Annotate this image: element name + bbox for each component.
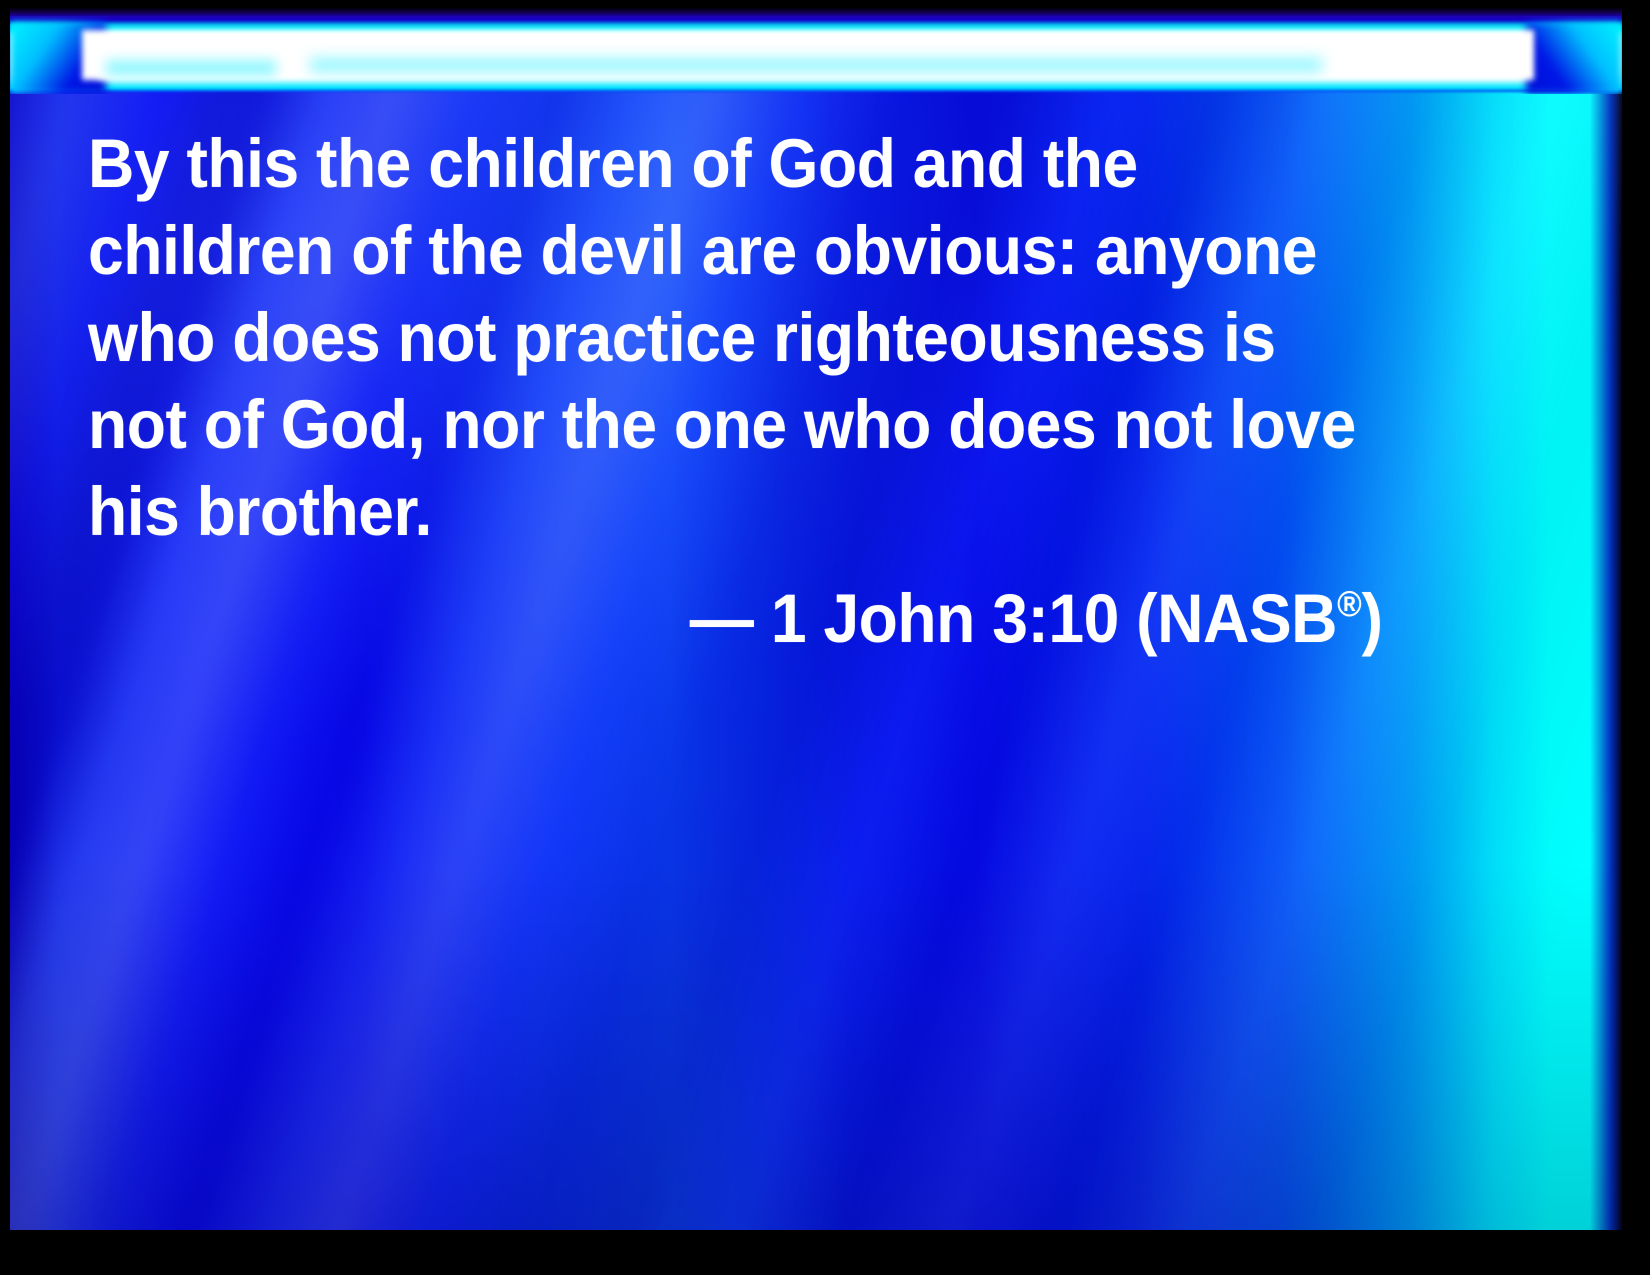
verse-block: By this the children of God and the chil… <box>88 120 1390 662</box>
verse-reference-translation-close: ) <box>1362 580 1383 657</box>
verse-reference-book: 1 John <box>771 580 975 657</box>
top-band-cyan-wisp-mid <box>310 58 1322 72</box>
verse-reference-chapter-verse: 3:10 <box>992 580 1119 657</box>
verse-text: By this the children of God and the chil… <box>88 120 1390 555</box>
verse-reference-dash: — <box>690 580 754 657</box>
verse-reference-translation-open: (NASB <box>1136 580 1337 657</box>
top-band-right-notch <box>1526 22 1622 94</box>
verse-reference: — 1 John 3:10 (NASB®) <box>88 561 1390 662</box>
top-highlight-band <box>10 8 1622 94</box>
top-band-cyan-wisp-left <box>106 60 276 76</box>
top-band-dark-rule <box>10 8 1622 16</box>
registered-trademark-icon: ® <box>1337 584 1362 624</box>
slide-canvas: By this the children of God and the chil… <box>10 8 1622 1230</box>
slide-frame: By this the children of God and the chil… <box>0 0 1650 1275</box>
